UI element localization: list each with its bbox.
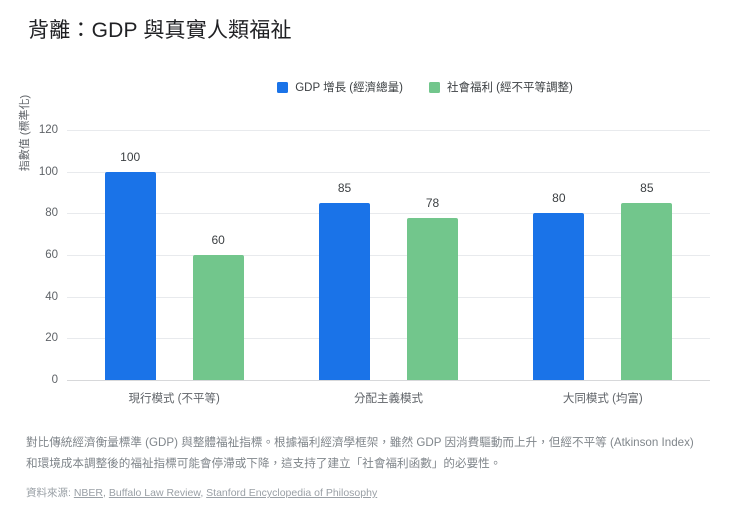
source-link-2[interactable]: Stanford Encyclopedia of Philosophy bbox=[206, 487, 377, 499]
bar-value-label-welfare-0: 60 bbox=[211, 233, 224, 247]
gridline-80 bbox=[67, 213, 710, 214]
gridline-60 bbox=[67, 255, 710, 256]
gridline-0 bbox=[67, 380, 710, 381]
plot-area: 1008580607885 bbox=[67, 130, 710, 380]
source-link-1[interactable]: Buffalo Law Review bbox=[109, 487, 200, 499]
y-tick-label-20: 20 bbox=[12, 332, 58, 344]
bar-welfare-2[interactable] bbox=[621, 203, 672, 380]
y-tick-label-40: 40 bbox=[12, 291, 58, 303]
bar-gdp-0[interactable] bbox=[105, 172, 156, 380]
bar-value-label-welfare-1: 78 bbox=[426, 196, 439, 210]
source-link-0[interactable]: NBER bbox=[74, 487, 103, 499]
gridline-40 bbox=[67, 297, 710, 298]
y-tick-label-80: 80 bbox=[12, 207, 58, 219]
bar-value-label-gdp-2: 80 bbox=[552, 191, 565, 205]
gridline-120 bbox=[67, 130, 710, 131]
bar-gdp-1[interactable] bbox=[319, 203, 370, 380]
source-line: 資料來源: NBER, Buffalo Law Review, Stanford… bbox=[26, 485, 377, 500]
y-tick-label-0: 0 bbox=[12, 374, 58, 386]
x-tick-label-2: 大同模式 (均富) bbox=[563, 390, 643, 406]
x-tick-label-0: 現行模式 (不平等) bbox=[128, 390, 219, 406]
gridline-20 bbox=[67, 338, 710, 339]
x-tick-label-1: 分配主義模式 bbox=[354, 390, 423, 406]
bar-value-label-gdp-1: 85 bbox=[338, 181, 351, 195]
source-prefix: 資料來源: bbox=[26, 487, 74, 499]
bar-value-label-welfare-2: 85 bbox=[640, 181, 653, 195]
chart-caption: 對比傳統經濟衡量標準 (GDP) 與整體福祉指標。根據福利經濟學框架，雖然 GD… bbox=[26, 432, 698, 475]
chart-plot: 指數值 (標準化) 020406080100120 1008580607885 … bbox=[0, 0, 740, 420]
bar-welfare-1[interactable] bbox=[407, 218, 458, 381]
bar-value-label-gdp-0: 100 bbox=[120, 150, 140, 164]
gridline-100 bbox=[67, 172, 710, 173]
y-tick-label-60: 60 bbox=[12, 249, 58, 261]
y-axis-title: 指數值 (標準化) bbox=[16, 63, 32, 203]
bar-gdp-2[interactable] bbox=[533, 213, 584, 380]
bar-welfare-0[interactable] bbox=[193, 255, 244, 380]
